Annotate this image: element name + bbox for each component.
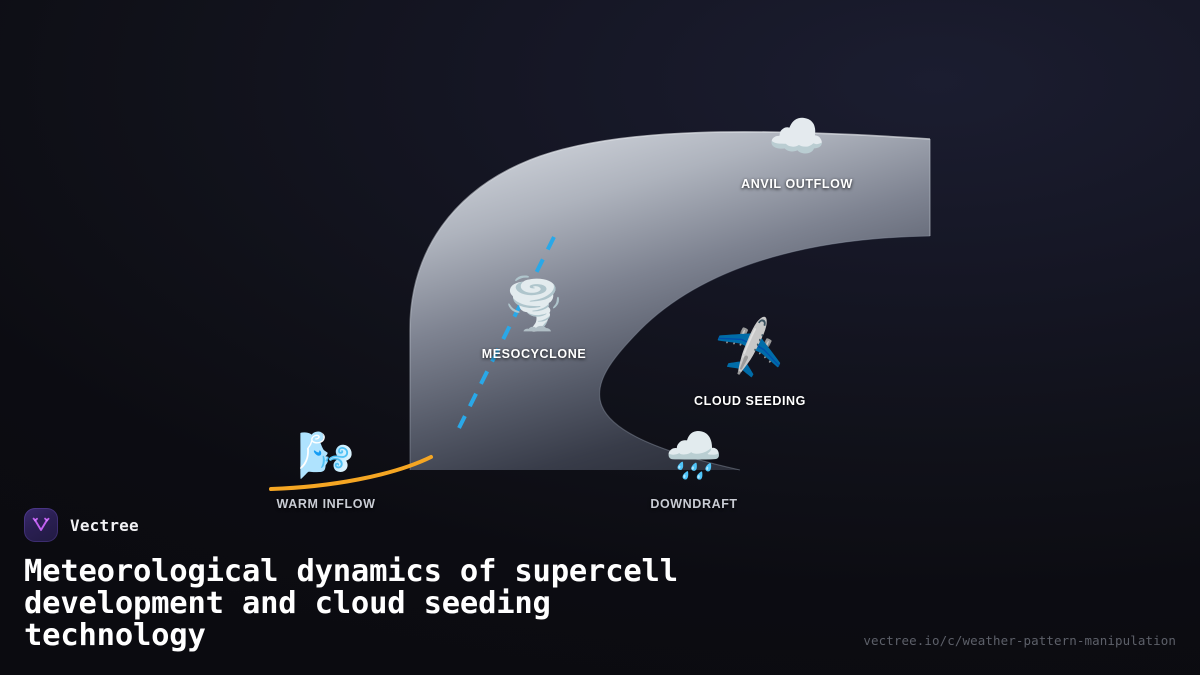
footer: Vectree Meteorological dynamics of super… — [24, 508, 1176, 652]
storm-body-group — [410, 132, 930, 470]
slide-canvas: ☁️ 🌪️ ✈️ 🌧️ 🌬️ ANVIL OUTFLOW MESOCYCLONE… — [0, 0, 1200, 675]
brand-lockup: Vectree — [24, 508, 1176, 542]
vectree-v-logo-icon — [24, 508, 58, 542]
brand-name: Vectree — [70, 516, 139, 535]
warm-inflow-arc — [271, 457, 431, 489]
page-title: Meteorological dynamics of supercell dev… — [24, 556, 854, 652]
source-url: vectree.io/c/weather-pattern-manipulatio… — [863, 633, 1176, 648]
